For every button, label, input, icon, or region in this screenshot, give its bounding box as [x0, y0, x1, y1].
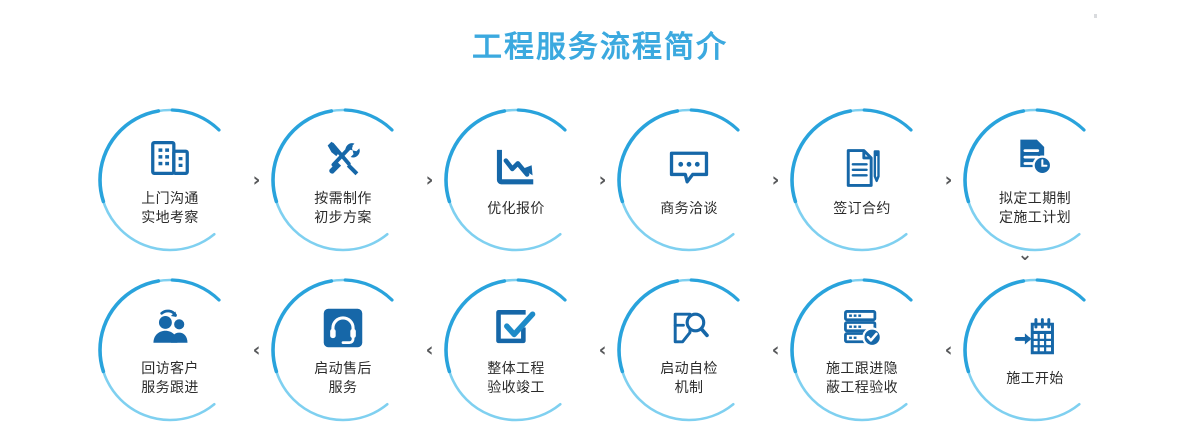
node-label: 启动自检 机制 — [660, 359, 718, 397]
node-label: 上门沟通 实地考察 — [141, 189, 199, 227]
flowchart-page: 工程服务流程简介 上门沟通 实地考察 › — [0, 0, 1200, 440]
node-label: 拟定工期制 定施工计划 — [999, 189, 1071, 227]
node-content: 拟定工期制 定施工计划 — [975, 133, 1095, 227]
node-content: 启动自检 机制 — [629, 303, 749, 397]
tools-icon — [320, 133, 366, 183]
node-label: 按需制作 初步方案 — [314, 189, 372, 227]
flow-node-step-3[interactable]: 优化报价 — [441, 105, 591, 255]
flow-node-step-10[interactable]: 整体工程 验收竣工 — [441, 275, 591, 425]
connector-left-icon: ‹ — [937, 275, 960, 425]
people-icon — [147, 303, 193, 353]
node-label: 施工跟进隐 蔽工程验收 — [826, 359, 898, 397]
node-label: 启动售后 服务 — [314, 359, 372, 397]
node-content: 施工跟进隐 蔽工程验收 — [802, 303, 922, 397]
node-label: 施工开始 — [1006, 369, 1064, 388]
node-label: 整体工程 验收竣工 — [487, 359, 545, 397]
node-content: 上门沟通 实地考察 — [110, 133, 230, 227]
node-label: 回访客户 服务跟进 — [141, 359, 199, 397]
flow-node-step-6[interactable]: 拟定工期制 定施工计划 — [960, 105, 1110, 255]
headset-icon — [321, 303, 365, 353]
node-label: 优化报价 — [487, 199, 545, 218]
node-content: 整体工程 验收竣工 — [456, 303, 576, 397]
flow-row-top: 上门沟通 实地考察 › 按需制作 初步方案 › 优化报价 — [95, 100, 1110, 260]
document-clock-icon — [1013, 133, 1057, 183]
node-label: 商务洽谈 — [660, 199, 718, 218]
flow-row-bottom: 回访客户 服务跟进 ‹ 启动售后 服务 ‹ 整体工程 验收竣工 ‹ — [95, 270, 1110, 430]
connector-left-icon: ‹ — [418, 275, 441, 425]
chart-down-icon — [493, 143, 539, 193]
node-content: 商务洽谈 — [629, 143, 749, 218]
connector-right-icon: › — [937, 105, 960, 255]
node-content: 签订合约 — [802, 143, 922, 218]
contract-pen-icon — [840, 143, 884, 193]
node-content: 施工开始 — [975, 313, 1095, 388]
flow-node-step-2[interactable]: 按需制作 初步方案 — [268, 105, 418, 255]
flow-node-step-9[interactable]: 启动自检 机制 — [614, 275, 764, 425]
page-title: 工程服务流程简介 — [0, 22, 1200, 66]
node-content: 启动售后 服务 — [283, 303, 403, 397]
connector-left-icon: ‹ — [764, 275, 787, 425]
connector-left-icon: ‹ — [245, 275, 268, 425]
flow-node-step-12[interactable]: 回访客户 服务跟进 — [95, 275, 245, 425]
connector-down-icon: ⌄ — [1013, 243, 1037, 267]
node-content: 按需制作 初步方案 — [283, 133, 403, 227]
node-content: 优化报价 — [456, 143, 576, 218]
document-search-icon — [666, 303, 712, 353]
connector-right-icon: › — [591, 105, 614, 255]
calendar-start-icon — [1012, 313, 1058, 363]
flow-node-step-4[interactable]: 商务洽谈 — [614, 105, 764, 255]
flow-node-step-11[interactable]: 启动售后 服务 — [268, 275, 418, 425]
speech-bubble-icon — [666, 143, 712, 193]
flow-node-step-1[interactable]: 上门沟通 实地考察 — [95, 105, 245, 255]
connector-right-icon: › — [418, 105, 441, 255]
background-speck — [1094, 14, 1097, 18]
checkbox-check-icon — [493, 303, 539, 353]
flow-node-step-8[interactable]: 施工跟进隐 蔽工程验收 — [787, 275, 937, 425]
connector-right-icon: › — [764, 105, 787, 255]
flow-node-step-7[interactable]: 施工开始 — [960, 275, 1110, 425]
connector-left-icon: ‹ — [591, 275, 614, 425]
flow-node-step-5[interactable]: 签订合约 — [787, 105, 937, 255]
connector-right-icon: › — [245, 105, 268, 255]
server-check-icon — [839, 303, 885, 353]
building-icon — [147, 133, 193, 183]
node-label: 签订合约 — [833, 199, 891, 218]
node-content: 回访客户 服务跟进 — [110, 303, 230, 397]
